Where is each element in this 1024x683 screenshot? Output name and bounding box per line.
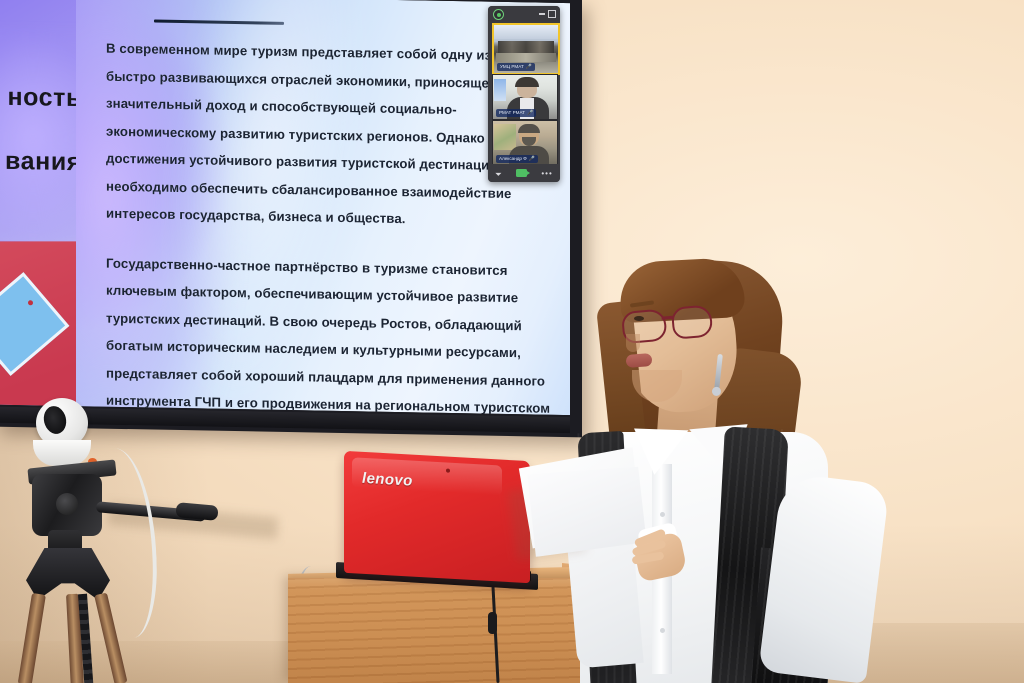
camera-tripod — [8, 398, 248, 683]
laptop-lid-dot — [446, 469, 450, 473]
laptop[interactable]: lenovo — [344, 451, 530, 583]
webcam-usb-cable — [89, 447, 160, 639]
record-camera-icon[interactable] — [493, 9, 504, 20]
participant-tile-active[interactable]: УМЦ РМАТ 🎤 — [492, 23, 560, 75]
tripod-leg — [18, 593, 46, 683]
left-panel-title: ность вания — [0, 63, 76, 194]
left-panel-title-line-1: ность — [0, 63, 76, 130]
maximize-icon[interactable] — [548, 10, 556, 18]
tv-display: ность вания В современном мире туризм пр… — [0, 0, 570, 415]
slide-paragraph-1: В современном мире туризм представляет с… — [106, 35, 552, 236]
mouth — [626, 353, 653, 368]
microphone-button[interactable]: 🞃 — [495, 169, 501, 178]
cable-ferrite-bead — [488, 612, 497, 634]
participant-label: УМЦ РМАТ 🎤 — [497, 63, 535, 71]
participant-mic-icon: 🎤 — [527, 109, 533, 117]
nose — [626, 334, 640, 352]
participant-name: РМАТ РМАТ — [499, 109, 525, 117]
participant-name: Александр Ф — [499, 155, 527, 163]
slide-left-panel: ность вания — [0, 0, 76, 406]
participant-tile[interactable]: Александр Ф 🎤 — [492, 120, 558, 166]
minimize-icon[interactable] — [539, 13, 545, 15]
presentation-slide: ность вания В современном мире туризм пр… — [0, 0, 570, 415]
video-conference-controls: 🞃 ••• — [488, 164, 560, 182]
video-conference-titlebar[interactable] — [488, 6, 560, 21]
tripod-tilt-knob[interactable] — [56, 493, 78, 515]
camera-button[interactable] — [516, 169, 527, 177]
slide-text-body: В современном мире туризм представляет с… — [106, 19, 552, 416]
more-options-button[interactable]: ••• — [541, 169, 552, 178]
eye — [634, 316, 644, 321]
lenovo-logo: lenovo — [362, 470, 413, 490]
video-conference-window[interactable]: УМЦ РМАТ 🎤 РМАТ РМАТ 🎤 Александр Ф 🎤 — [488, 6, 560, 182]
held-papers-second-sheet — [527, 463, 647, 557]
participant-mic-icon: 🎤 — [529, 155, 535, 163]
conference-room-scene: ность вания В современном мире туризм пр… — [0, 0, 1024, 683]
participant-mic-icon: 🎤 — [526, 63, 532, 71]
left-panel-dot — [28, 300, 33, 305]
participant-tile[interactable]: РМАТ РМАТ 🎤 — [492, 74, 558, 120]
slide-paragraph-2: Государственно-частное партнёрство в тур… — [106, 249, 552, 415]
participant-name: УМЦ РМАТ — [500, 63, 524, 71]
participant-label: Александр Ф 🎤 — [496, 155, 538, 163]
shirt-button — [660, 628, 665, 633]
participant-label: РМАТ РМАТ 🎤 — [496, 109, 536, 117]
presenter — [540, 250, 900, 683]
left-panel-title-line-2: вания — [0, 127, 76, 194]
shirt-button — [660, 512, 665, 517]
